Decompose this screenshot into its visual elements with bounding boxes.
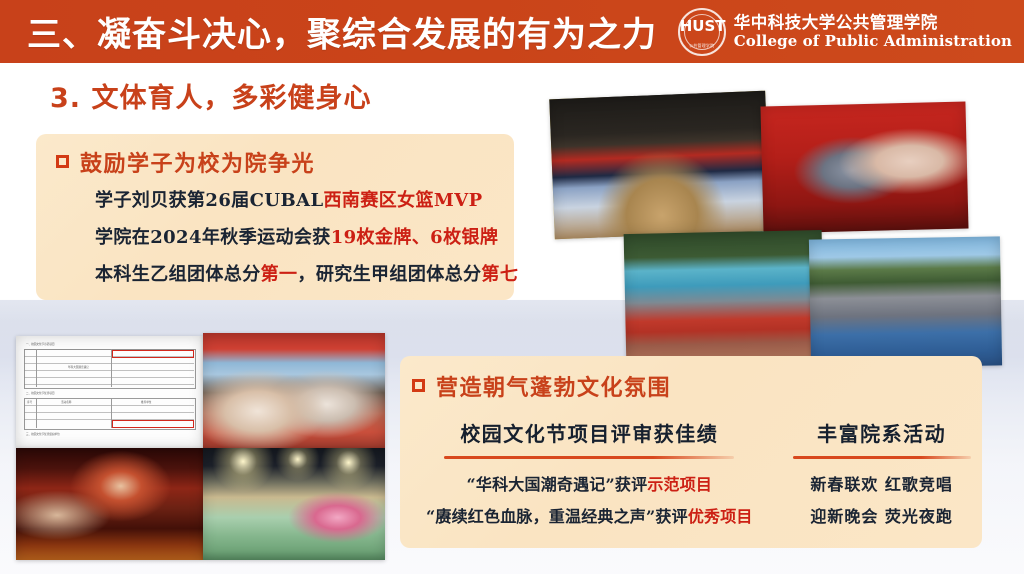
culture-item: “赓续红色血脉，重温经典之声”获评优秀项目 [426,503,753,527]
seal-glyph: HUST [680,19,724,34]
heading-underline [793,456,971,459]
award-line-highlight: 西南赛区女篮MVP [324,190,483,211]
photo-vignette [549,91,770,240]
panel-awards-title: 鼓励学子为校为院争光 [80,146,315,178]
brand-text: 华中科技大学公共管理学院 College of Public Administr… [734,14,1012,49]
panel-culture: 营造朝气蓬勃文化氛围 校园文化节项目评审获佳绩 “华科大国潮奇遇记”获评示范项目… [400,356,982,548]
culture-item: “华科大国潮奇遇记”获评示范项目 [426,471,753,495]
culture-column-activities: 丰富院系活动 新春联欢 红歌竞唱 迎新晚会 荧光夜跑 [793,418,971,535]
photo-review-document: 一、校园文化节示范项目 华科大国潮奇遇记 二、校园文化节优秀项目 序号 活动名称… [16,336,203,448]
hollow-square-bullet-icon [412,379,425,392]
panel-culture-title: 营造朝气蓬勃文化氛围 [436,370,671,402]
photo-sports-meet-banner [624,230,825,367]
slide-root: 三、凝奋斗决心，聚综合发展的有为之力 HUST 公共管理学院 华中科技大学公共管… [0,0,1024,574]
heading-underline [444,456,734,459]
culture-item-text: “华科大国潮奇遇记”获评 [467,475,648,494]
award-line-highlight: 19枚金牌、6枚银牌 [331,227,499,248]
culture-item-text: “赓续红色血脉，重温经典之声”获评 [426,507,688,526]
photo-festival-booth [203,333,385,448]
activity-item: 新春联欢 红歌竞唱 [793,471,971,495]
award-line-text: 本科生乙组团体总分 [95,264,261,285]
panel-awards: 鼓励学子为校为院争光 学子刘贝获第26届CUBAL西南赛区女篮MVP 学院在20… [36,134,514,300]
culture-column-festival: 校园文化节项目评审获佳绩 “华科大国潮奇遇记”获评示范项目 “赓续红色血脉，重温… [426,418,753,535]
panel-awards-lines: 学子刘贝获第26届CUBAL西南赛区女篮MVP 学院在2024年秋季运动会获19… [95,186,518,297]
award-line-highlight: 第一 [261,264,298,285]
award-line-text: 学院在2024年秋季运动会获 [95,227,331,248]
photo-mvp-award [760,102,968,234]
page-title: 三、凝奋斗决心，聚综合发展的有为之力 [27,7,657,56]
award-line: 本科生乙组团体总分第一，研究生甲组团体总分第七 [95,260,518,286]
photo-vignette [809,236,1002,368]
hollow-square-bullet-icon [56,155,69,168]
activity-item: 迎新晚会 荧光夜跑 [793,503,971,527]
panel-culture-header: 营造朝气蓬勃文化氛围 [412,370,671,402]
photo-red-classics-stage [16,448,203,560]
header-bar: 三、凝奋斗决心，聚综合发展的有为之力 HUST 公共管理学院 华中科技大学公共管… [0,0,1024,63]
culture-column-a-heading: 校园文化节项目评审获佳绩 [426,418,753,447]
brand-name-cn: 华中科技大学公共管理学院 [734,14,1012,32]
photo-track-field-group [809,236,1002,368]
photo-vignette [203,333,385,448]
culture-item-highlight: 示范项目 [647,475,712,494]
photo-vignette [16,448,203,560]
panel-awards-header: 鼓励学子为校为院争光 [56,146,315,178]
award-line-text-2: ，研究生甲组团体总分 [297,264,481,285]
photo-vignette [624,230,825,367]
photo-vignette [760,102,968,234]
award-line-highlight-2: 第七 [481,264,518,285]
university-seal-icon: HUST 公共管理学院 [678,8,726,56]
culture-columns: 校园文化节项目评审获佳绩 “华科大国潮奇遇记”获评示范项目 “赓续红色血脉，重温… [426,418,966,535]
culture-item-highlight: 优秀项目 [688,507,753,526]
culture-column-b-heading: 丰富院系活动 [793,418,971,447]
award-line-text: 学子刘贝获第26届CUBAL [95,190,324,211]
photo-vignette [16,336,203,448]
section-heading: 3. 文体育人，多彩健身心 [50,76,371,115]
photo-vignette [203,448,385,560]
seal-subtext: 公共管理学院 [680,44,724,48]
brand-name-en: College of Public Administration [734,33,1012,50]
brand-lockup: HUST 公共管理学院 华中科技大学公共管理学院 College of Publ… [678,8,1012,56]
photo-night-performance [203,448,385,560]
photo-basketball-ceremony [549,91,770,240]
award-line: 学院在2024年秋季运动会获19枚金牌、6枚银牌 [95,223,518,249]
award-line: 学子刘贝获第26届CUBAL西南赛区女篮MVP [95,186,518,212]
